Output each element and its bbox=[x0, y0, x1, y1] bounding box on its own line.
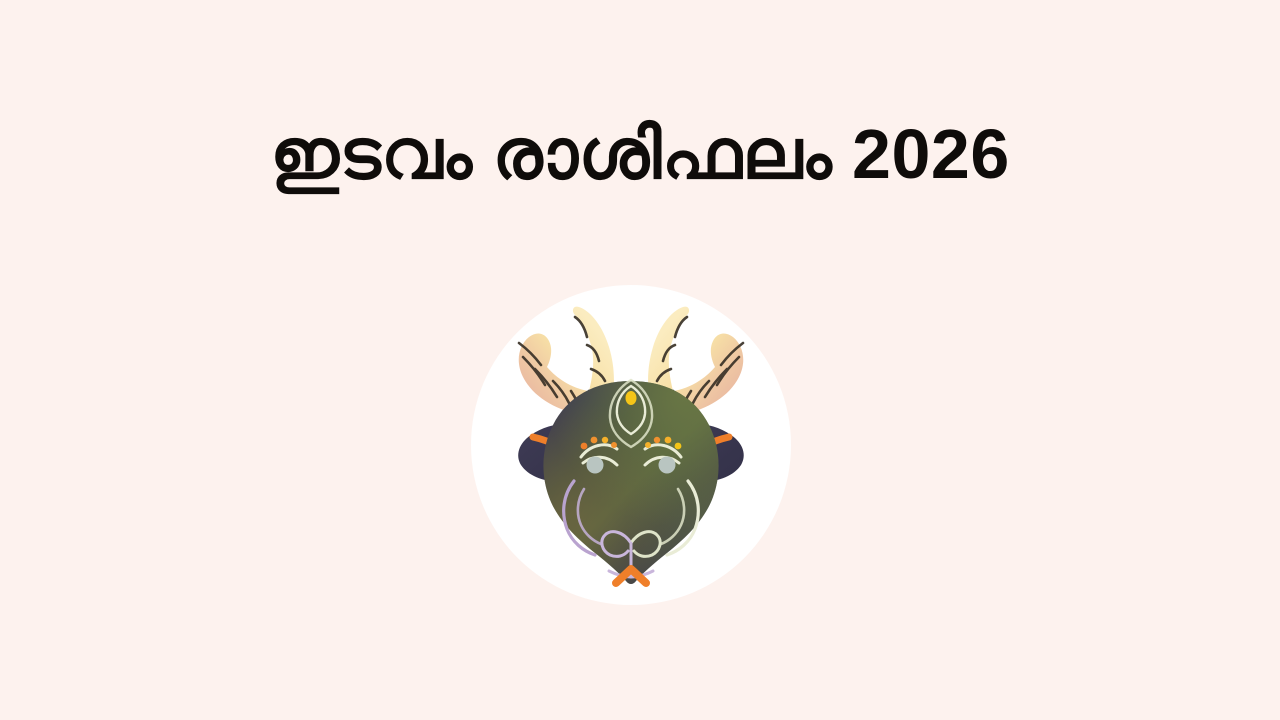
page-title: ഇടവം രാശിഫലം 2026 bbox=[270, 73, 1010, 189]
bull-face-icon bbox=[471, 285, 791, 605]
zodiac-emblem bbox=[471, 285, 791, 605]
title-block: ഇടവം രാശിഫലം 2026 bbox=[0, 0, 1280, 262]
taurus-bull-icon bbox=[471, 285, 791, 605]
poster-canvas: ഇടവം രാശിഫലം 2026 bbox=[0, 0, 1280, 720]
